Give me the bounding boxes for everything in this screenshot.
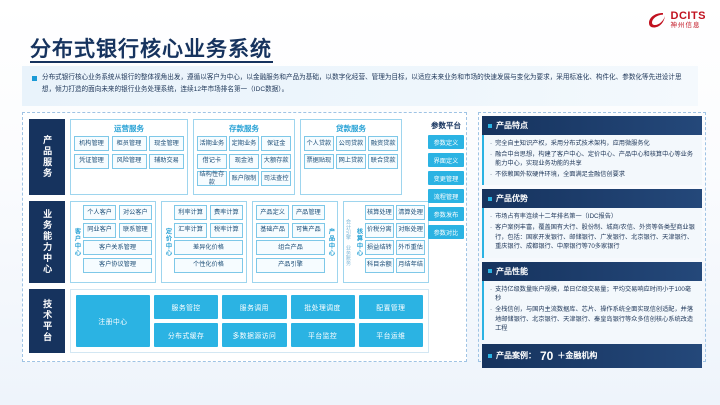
capability-cell[interactable]: 清算处理	[396, 205, 425, 220]
list-item: ·全栈信创，与国内主流数据库、芯片、操作系统全面实现信创适配，并落地邮储银行、北…	[490, 305, 696, 334]
intro-banner: 分布式银行核心业务系统从银行的整体视角出发，遵循以客户为中心，以金融服务和产品为…	[22, 66, 698, 106]
service-cell[interactable]: 公司贷款	[336, 136, 366, 151]
service-cell[interactable]: 辅助交易	[149, 154, 184, 169]
title-underline	[30, 61, 273, 63]
square-bullet-icon	[488, 269, 492, 273]
service-cell[interactable]: 机构管理	[74, 136, 109, 151]
slide-page: DCITS 神州信息 分布式银行核心业务系统 分布式银行核心业务系统从银行的整体…	[0, 0, 720, 405]
service-cell[interactable]: 个人贷款	[304, 136, 334, 151]
service-cell[interactable]: 凭证管理	[74, 154, 109, 169]
capability-cell[interactable]: 价税分离	[365, 223, 394, 238]
intro-text: 分布式银行核心业务系统从银行的整体视角出发，遵循以客户为中心，以金融服务和产品为…	[42, 72, 690, 106]
list-item: ·融合中台思想，构建了客户中心、定价中心、产品中心和核算中心等业务能力中心，实现…	[490, 150, 696, 169]
layer-product-service: 产品服务 运营服务 机构管理 柜员管理 现金管理 凭证管理 风险管理 辅助交易 …	[29, 119, 429, 195]
capability-cell[interactable]: 产品管理	[292, 205, 325, 220]
service-cell[interactable]: 保证金	[261, 136, 291, 151]
card-title: 产品特点	[496, 120, 528, 131]
center-product: 产品定义 产品管理 基础产品 可售产品 组合产品 产品引擎 产品中心	[252, 201, 338, 283]
tech-main-cell[interactable]: 注册中心	[76, 295, 150, 347]
capability-cell[interactable]: 科目余额	[365, 258, 394, 273]
card-header: 产品优势	[482, 189, 702, 208]
service-cell[interactable]: 风险管理	[112, 154, 147, 169]
capability-cell[interactable]: 利率计算	[174, 205, 207, 220]
dot-icon: ·	[490, 150, 492, 169]
list-item: ·完全自主知识产权，采用分布式技术架构，应用微服务化	[490, 139, 696, 149]
service-cell[interactable]: 联合贷款	[368, 154, 398, 169]
capability-cell[interactable]: 月结年结	[396, 258, 425, 273]
center-customer: 客户中心 个人客户 对公客户 同业客户 联系管理 客户关系管理 客户协议管理	[70, 201, 156, 283]
card-product-advantages: 产品优势 ·市场占有率连续十二年排名第一（IDC报告） ·客户案例丰富，覆盖国有…	[482, 189, 702, 257]
center-label: 客户中心	[71, 202, 83, 282]
tech-cell[interactable]: 配置管理	[359, 295, 423, 319]
capability-cell[interactable]: 个性化价格	[174, 258, 243, 273]
capability-cell[interactable]: 同业客户	[83, 223, 116, 238]
center-label: 产品中心	[325, 202, 337, 282]
product-case-banner: 产品案例： 70 ＋金融机构	[482, 344, 702, 368]
capability-cell[interactable]: 税率计算	[210, 223, 243, 238]
capability-cell[interactable]: 可售产品	[292, 223, 325, 238]
bullet-icon	[32, 76, 37, 81]
service-cell[interactable]: 借记卡	[197, 154, 227, 169]
page-title: 分布式银行核心业务系统	[30, 33, 272, 63]
card-body: ·市场占有率连续十二年排名第一（IDC报告） ·客户案例丰富，覆盖国有大行、股份…	[482, 208, 702, 257]
card-header: 产品性能	[482, 262, 702, 281]
center-sub-label: 会计引擎 业务账务	[344, 202, 353, 282]
capability-cell[interactable]: 个人客户	[83, 205, 116, 220]
architecture-frame: 产品服务 运营服务 机构管理 柜员管理 现金管理 凭证管理 风险管理 辅助交易 …	[22, 112, 467, 362]
square-bullet-icon	[488, 354, 492, 358]
param-platform-title: 参数平台	[425, 120, 467, 131]
dot-icon: ·	[490, 170, 492, 180]
card-body: ·支持亿级数量账户规模，单日亿级交易量；平均交易响应时间小于100毫秒 ·全栈信…	[482, 281, 702, 340]
layer-capability-center: 业务能力中心 客户中心 个人客户 对公客户 同业客户 联系管理 客户关系管理 客…	[29, 201, 429, 283]
center-label: 定价中心	[162, 202, 174, 282]
service-cell[interactable]: 结构性存款	[197, 171, 227, 186]
service-cell[interactable]: 司法查控	[261, 171, 291, 186]
capability-cell[interactable]: 差异化价格	[174, 240, 243, 255]
card-product-features: 产品特点 ·完全自主知识产权，采用分布式技术架构，应用微服务化 ·融合中台思想，…	[482, 116, 702, 185]
case-number: 70	[540, 349, 553, 363]
list-item: ·客户案例丰富，覆盖国有大行、股份制、城商/农信、外资等各类型商业银行，包括：国…	[490, 223, 696, 252]
case-label: 产品案例：	[496, 350, 536, 361]
center-accounting: 会计引擎 业务账务 核算中心 核算处理 清算处理 价税分离 对账处理 损益结转 …	[343, 201, 429, 283]
dot-icon: ·	[490, 139, 492, 149]
param-cell[interactable]: 界面定义	[428, 153, 464, 167]
capability-cell[interactable]: 联系管理	[119, 223, 152, 238]
center-label: 核算中心	[353, 202, 365, 282]
tech-panel: 注册中心 服务管控 服务调用 批处理调度 配置管理 分布式缓存 多数据源访问 平…	[70, 289, 429, 353]
tech-cell[interactable]: 分布式缓存	[154, 323, 218, 347]
layer-label-capability-center: 业务能力中心	[29, 201, 65, 283]
layer-label-tech-platform: 技术平台	[29, 289, 65, 353]
dot-icon: ·	[490, 285, 492, 304]
dot-icon: ·	[490, 223, 492, 252]
dot-icon: ·	[490, 212, 492, 222]
tech-cell[interactable]: 多数据源访问	[222, 323, 286, 347]
service-cell[interactable]: 活期业务	[197, 136, 227, 151]
param-cell[interactable]: 参数对比	[428, 225, 464, 239]
list-item: ·市场占有率连续十二年排名第一（IDC报告）	[490, 212, 696, 222]
group-deposit-service: 存款服务 活期业务 定期业务 保证金 借记卡 现金池 大额存款 结构性存款 账户…	[193, 119, 295, 195]
card-product-performance: 产品性能 ·支持亿级数量账户规模，单日亿级交易量；平均交易响应时间小于100毫秒…	[482, 262, 702, 340]
layer-label-product-service: 产品服务	[29, 119, 65, 195]
dot-icon: ·	[490, 305, 492, 334]
card-title: 产品性能	[496, 266, 528, 277]
param-platform: 参数平台 参数定义 界面定义 变更管理 流程管理 参数发布 参数对比	[425, 120, 467, 243]
service-cell[interactable]: 大额存款	[261, 154, 291, 169]
list-item: ·支持亿级数量账户规模，单日亿级交易量；平均交易响应时间小于100毫秒	[490, 285, 696, 304]
tech-cell[interactable]: 平台监控	[291, 323, 355, 347]
brand-name-cn: 神州信息	[671, 23, 707, 30]
tech-cell[interactable]: 服务管控	[154, 295, 218, 319]
group-operation-service: 运营服务 机构管理 柜员管理 现金管理 凭证管理 风险管理 辅助交易	[70, 119, 188, 195]
brand-name-en: DCITS	[671, 11, 707, 22]
tech-cell[interactable]: 服务调用	[222, 295, 286, 319]
capability-cell[interactable]: 客户协议管理	[83, 258, 152, 273]
capability-cell[interactable]: 基础产品	[256, 223, 289, 238]
service-cell[interactable]: 定期业务	[229, 136, 259, 151]
capability-cell[interactable]: 客户关系管理	[83, 240, 152, 255]
info-panel: 产品特点 ·完全自主知识产权，采用分布式技术架构，应用微服务化 ·融合中台思想，…	[478, 112, 706, 362]
layer-tech-platform: 技术平台 注册中心 服务管控 服务调用 批处理调度 配置管理 分布式缓存 多数据…	[29, 289, 429, 353]
service-cell[interactable]: 网上贷款	[336, 154, 366, 169]
capability-cell[interactable]: 核算处理	[365, 205, 394, 220]
group-title: 运营服务	[71, 120, 187, 136]
param-cell[interactable]: 变更管理	[428, 171, 464, 185]
param-cell[interactable]: 参数发布	[428, 207, 464, 221]
square-bullet-icon	[488, 124, 492, 128]
capability-cell[interactable]: 费率计算	[210, 205, 243, 220]
card-header: 产品特点	[482, 116, 702, 135]
case-suffix: ＋金融机构	[557, 350, 597, 361]
capability-cell[interactable]: 产品定义	[256, 205, 289, 220]
capability-cell[interactable]: 对账处理	[396, 223, 425, 238]
service-cell[interactable]: 现金池	[229, 154, 259, 169]
capability-cell[interactable]: 损益结转	[365, 240, 394, 255]
center-pricing: 定价中心 利率计算 费率计算 汇率计算 税率计算 差异化价格 个性化价格	[161, 201, 247, 283]
capability-cell[interactable]: 组合产品	[256, 240, 325, 255]
capability-cell[interactable]: 汇率计算	[174, 223, 207, 238]
service-cell[interactable]: 账户限制	[229, 171, 259, 186]
group-loan-service: 贷款服务 个人贷款 公司贷款 融资贷款 票据贴现 网上贷款 联合贷款	[300, 119, 402, 195]
list-item: ·不依赖国外软硬件环境，全面满足金融信创要求	[490, 170, 696, 180]
service-cell[interactable]: 融资贷款	[368, 136, 398, 151]
card-body: ·完全自主知识产权，采用分布式技术架构，应用微服务化 ·融合中台思想，构建了客户…	[482, 135, 702, 185]
group-title: 存款服务	[194, 120, 294, 136]
dcits-swirl-icon	[647, 10, 667, 30]
param-cell[interactable]: 流程管理	[428, 189, 464, 203]
brand-logo: DCITS 神州信息	[647, 10, 707, 30]
group-title: 贷款服务	[301, 120, 401, 136]
tech-cell[interactable]: 批处理调度	[291, 295, 355, 319]
capability-cell[interactable]: 对公客户	[119, 205, 152, 220]
card-title: 产品优势	[496, 193, 528, 204]
service-cell[interactable]: 现金管理	[149, 136, 184, 151]
tech-cell[interactable]: 平台运维	[359, 323, 423, 347]
param-cell[interactable]: 参数定义	[428, 135, 464, 149]
service-cell[interactable]: 柜员管理	[112, 136, 147, 151]
square-bullet-icon	[488, 197, 492, 201]
capability-cell[interactable]: 产品引擎	[256, 258, 325, 273]
capability-cell[interactable]: 外币重估	[396, 240, 425, 255]
service-cell[interactable]: 票据贴现	[304, 154, 334, 169]
